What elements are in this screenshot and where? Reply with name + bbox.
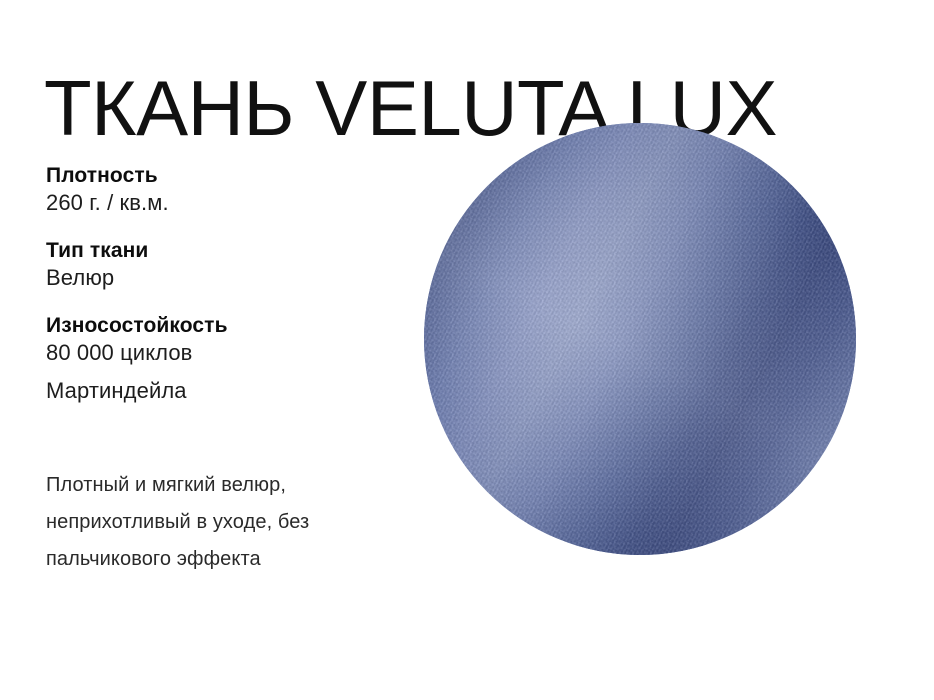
swatch-vignette [424,123,856,555]
spec-value-fabric-type: Велюр [46,264,416,291]
spec-value-wear-resistance: 80 000 циклов [46,339,416,366]
spec-block-fabric-type: Тип ткани Велюр [46,238,416,291]
fabric-swatch-image [424,123,856,555]
spec-value-wear-resistance-standard: Мартиндейла [46,377,416,404]
spec-label-wear-resistance: Износостойкость [46,313,416,339]
spec-label-fabric-type: Тип ткани [46,238,416,264]
spec-value-density: 260 г. / кв.м. [46,189,416,216]
fabric-spec-slide: ТКАНЬ VELUTA LUX Плотность 260 г. / кв.м… [0,0,934,700]
spec-list: Плотность 260 г. / кв.м. Тип ткани Велюр… [46,163,416,430]
spec-block-density: Плотность 260 г. / кв.м. [46,163,416,216]
spec-block-wear-resistance: Износостойкость 80 000 циклов Мартиндейл… [46,313,416,404]
fabric-description: Плотный и мягкий велюр, неприхотливый в … [46,467,406,578]
spec-label-density: Плотность [46,163,416,189]
